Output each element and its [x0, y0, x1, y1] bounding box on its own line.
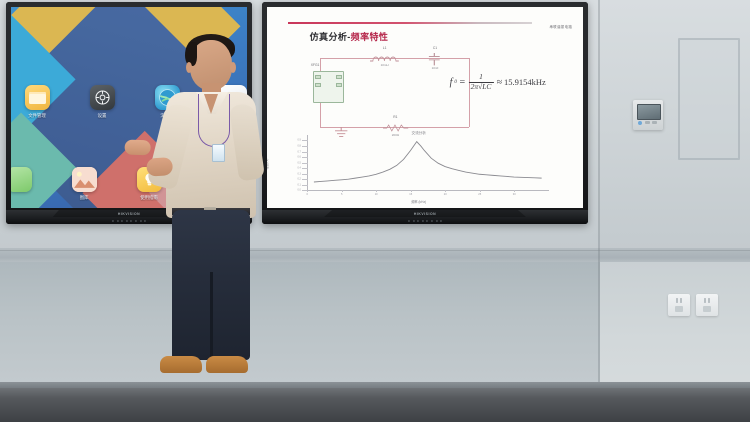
wall-lower-right: [600, 262, 750, 392]
slide-title: 仿真分析-频率特性: [310, 30, 389, 43]
launcher-label-file-manager: 文件管理: [28, 113, 46, 119]
pointing-hand: [124, 140, 151, 156]
control-panel-screen: [637, 104, 661, 120]
plot-x-tick-label: 30: [513, 193, 516, 196]
resonance-curve: [307, 135, 549, 190]
photo-icon[interactable]: [72, 167, 97, 192]
launcher-item-file-manager[interactable]: 文件管理: [17, 85, 57, 119]
left-display-brand: HIKVISION: [118, 212, 140, 216]
plot-x-tick-label: 10: [375, 193, 378, 196]
formula-subscript: 0: [454, 80, 457, 85]
circuit-diagram: XFG1 L1 10mH C1 10nF: [302, 51, 482, 139]
formula-lhs: f: [450, 77, 453, 88]
plot-x-axis: [307, 190, 549, 191]
plot-y-axis-label: 幅值 (V): [267, 159, 269, 170]
plot-y-tick-label: 0.1: [286, 183, 301, 186]
circuit-value-c1: 10nF: [422, 66, 447, 70]
launcher-label-gallery: 图库: [80, 195, 89, 201]
formula-equals: =: [459, 77, 466, 88]
plot-y-tick: [302, 190, 307, 191]
plot-y-tick-label: 0.3: [286, 172, 301, 175]
shoe-right: [206, 356, 248, 373]
capacitor-symbol-c1: [428, 53, 441, 65]
plot-y-tick-label: 0.4: [286, 167, 301, 170]
plot-x-axis-label: 频率 (kHz): [411, 199, 426, 204]
door-frame-outline: [678, 38, 740, 160]
control-panel-button-b[interactable]: [652, 121, 657, 124]
launcher-item-gallery[interactable]: 图库: [64, 167, 104, 201]
right-display-chin: HIKVISION: [262, 210, 588, 224]
folder-icon[interactable]: [25, 85, 50, 110]
circuit-label-l1: L1: [370, 46, 399, 50]
formula-approx: ≈: [496, 77, 502, 88]
plot-x-tick-label: 25: [478, 193, 481, 196]
circuit-label-xfg1: XFG1: [311, 63, 320, 67]
plot-y-tick-label: 0.9: [286, 139, 301, 142]
floor: [0, 388, 750, 422]
plot-x-tick-label: 15: [409, 193, 412, 196]
wall-seam: [598, 0, 600, 392]
resonant-frequency-formula: f0 = 1 2π√LC ≈ 15.9154kHz: [450, 73, 546, 91]
shoe-left: [160, 356, 202, 373]
resistor-symbol-r1: [383, 124, 408, 132]
formula-result: 15.9154kHz: [504, 77, 546, 87]
circuit-wire-right: [469, 58, 470, 127]
formula-denominator: 2π√LC: [469, 83, 494, 91]
ear-right: [230, 62, 236, 73]
circuit-label-c1: C1: [422, 46, 447, 50]
right-display-screen[interactable]: 仿真分析-频率特性 串联谐振电路: [267, 7, 583, 208]
wall-seam-horizontal: [0, 250, 750, 251]
plot-y-tick-label: 0.0: [286, 189, 301, 192]
plot-y-tick-label: 0.6: [286, 156, 301, 159]
forearm: [146, 157, 173, 177]
control-panel-indicator: [638, 121, 642, 125]
left-display-speaker-grille: [112, 220, 146, 222]
control-panel-button-a[interactable]: [645, 121, 650, 124]
circuit-value-l1: 10mH: [370, 63, 399, 67]
gear-icon[interactable]: [90, 85, 115, 110]
power-outlet-left[interactable]: [668, 294, 690, 316]
function-generator-xfg1: [313, 71, 344, 103]
ear-left: [186, 62, 192, 73]
instructor: [148, 34, 266, 390]
launcher-item-settings[interactable]: 设置: [82, 85, 122, 119]
plot-y-tick-label: 0.8: [286, 144, 301, 147]
frequency-response-plot: 交流分析 051015202530 0.00.10.20.30.40.50.60…: [286, 134, 551, 198]
presentation-slide[interactable]: 仿真分析-频率特性 串联谐振电路: [267, 7, 583, 208]
right-display-brand: HIKVISION: [414, 212, 436, 216]
classroom-scene: 文件管理 设置: [0, 0, 750, 422]
plot-x-tick-label: 0: [306, 193, 307, 196]
slide-accent-bar: [288, 22, 531, 24]
lanyard: [198, 94, 230, 147]
power-outlet-right[interactable]: [696, 294, 718, 316]
formula-numerator: 1: [476, 73, 486, 81]
slide-title-highlight: 频率特性: [351, 32, 389, 42]
trouser-seam: [210, 272, 213, 362]
launcher-label-settings: 设置: [98, 113, 107, 119]
plot-x-tick-label: 20: [444, 193, 447, 196]
wall-control-panel[interactable]: [633, 100, 663, 130]
slide-corner-label: 串联谐振电路: [550, 24, 573, 29]
circuit-label-r1: R1: [381, 115, 410, 119]
id-badge: [212, 144, 225, 162]
right-display-speaker-grille: [408, 220, 442, 222]
formula-fraction: 1 2π√LC: [469, 73, 494, 91]
plot-y-tick-label: 0.5: [286, 161, 301, 164]
slide-title-main: 仿真分析: [310, 32, 348, 42]
note-icon[interactable]: [11, 167, 32, 192]
plot-x-tick-label: 5: [341, 193, 342, 196]
launcher-item-extra[interactable]: [11, 167, 39, 192]
right-interactive-display[interactable]: 仿真分析-频率特性 串联谐振电路: [262, 2, 588, 224]
plot-y-tick-label: 0.2: [286, 178, 301, 181]
plot-y-tick-label: 0.7: [286, 150, 301, 153]
